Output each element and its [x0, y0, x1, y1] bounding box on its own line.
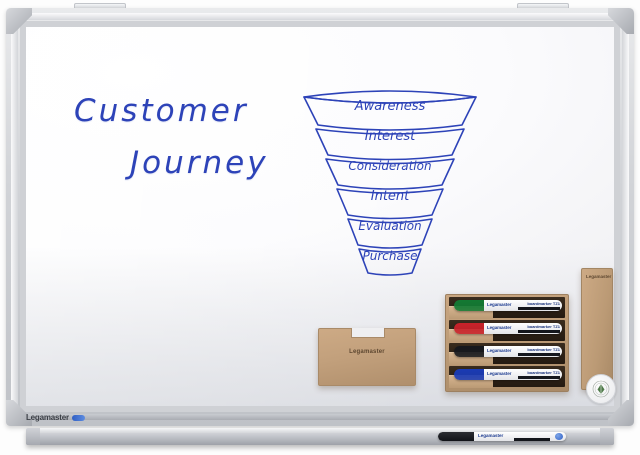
frame-bevel-bottom [14, 414, 626, 420]
frame-brand-logo: Legamaster [26, 413, 85, 422]
marker-tip-black [454, 346, 484, 357]
marker-model-label: boardmarker TZ1 [527, 347, 560, 352]
marker-body: Legamasterboardmarker TZ1 [484, 300, 562, 311]
tray-marker-tip [438, 432, 474, 441]
organizer-slot: Legamasterboardmarker TZ1 [449, 320, 565, 341]
board-eraser[interactable]: Legamaster [581, 268, 613, 390]
marker-stripe [518, 353, 560, 357]
marker-organizer[interactable]: Legamasterboardmarker TZ1Legamasterboard… [445, 294, 569, 392]
tray-marker[interactable]: Legamaster [438, 432, 566, 441]
marker-stripe [518, 376, 560, 380]
marker-model-label: boardmarker TZ1 [527, 324, 560, 329]
marker-brand-label: Legamaster [487, 325, 511, 330]
tray-end-left [26, 428, 40, 445]
marker-green[interactable]: Legamasterboardmarker TZ1 [454, 300, 562, 311]
marker-body: Legamasterboardmarker TZ1 [484, 346, 562, 357]
whiteboard-scene: Customer Journey AwarenessInterestConsid… [0, 0, 640, 455]
funnel-stage-purchase: Purchase [363, 249, 418, 263]
funnel-stage-interest: Interest [365, 129, 415, 144]
pen-tray[interactable]: Legamaster [26, 428, 614, 445]
leaf-icon [592, 380, 610, 398]
funnel-diagram: AwarenessInterestConsiderationIntentEval… [292, 79, 488, 279]
marker-tip-green [454, 300, 484, 311]
frame-bevel-right [622, 16, 629, 418]
marker-body: Legamasterboardmarker TZ1 [484, 369, 562, 380]
marker-model-label: boardmarker TZ1 [527, 301, 560, 306]
tray-marker-brand: Legamaster [478, 433, 503, 438]
funnel-stage-evaluation: Evaluation [358, 219, 421, 233]
handwritten-title-line1: Customer [74, 93, 249, 129]
marker-blue[interactable]: Legamasterboardmarker TZ1 [454, 369, 562, 380]
brand-swoosh-icon [72, 415, 85, 421]
marker-black[interactable]: Legamasterboardmarker TZ1 [454, 346, 562, 357]
marker-red[interactable]: Legamasterboardmarker TZ1 [454, 323, 562, 334]
marker-brand-label: Legamaster [487, 302, 511, 307]
holder-brand-label: Legamaster [349, 349, 385, 355]
tray-marker-cap-icon [555, 433, 563, 440]
organizer-slot: Legamasterboardmarker TZ1 [449, 297, 565, 318]
eco-certification-seal [586, 374, 616, 404]
marker-tip-blue [454, 369, 484, 380]
frame-bevel-left [11, 16, 18, 418]
frame-bevel-top [14, 13, 626, 20]
funnel-stage-awareness: Awareness [355, 99, 426, 114]
organizer-slot: Legamasterboardmarker TZ1 [449, 343, 565, 364]
marker-model-label: boardmarker TZ1 [527, 370, 560, 375]
tray-end-right [600, 428, 614, 445]
tray-marker-stripe [514, 438, 550, 441]
tray-marker-body: Legamaster [474, 432, 566, 441]
marker-body: Legamasterboardmarker TZ1 [484, 323, 562, 334]
holder-notch [351, 328, 385, 338]
marker-stripe [518, 330, 560, 334]
funnel-stage-consideration: Consideration [348, 159, 431, 173]
marker-brand-label: Legamaster [487, 371, 511, 376]
marker-stripe [518, 307, 560, 311]
funnel-stage-intent: Intent [371, 189, 410, 204]
board-eraser-brand-label: Legamaster [586, 274, 611, 279]
frame-brand-text: Legamaster [26, 413, 69, 422]
eraser-holder[interactable]: Legamaster [318, 328, 416, 386]
handwritten-title-line2: Journey [130, 145, 269, 181]
organizer-slot: Legamasterboardmarker TZ1 [449, 366, 565, 387]
marker-tip-red [454, 323, 484, 334]
marker-brand-label: Legamaster [487, 348, 511, 353]
